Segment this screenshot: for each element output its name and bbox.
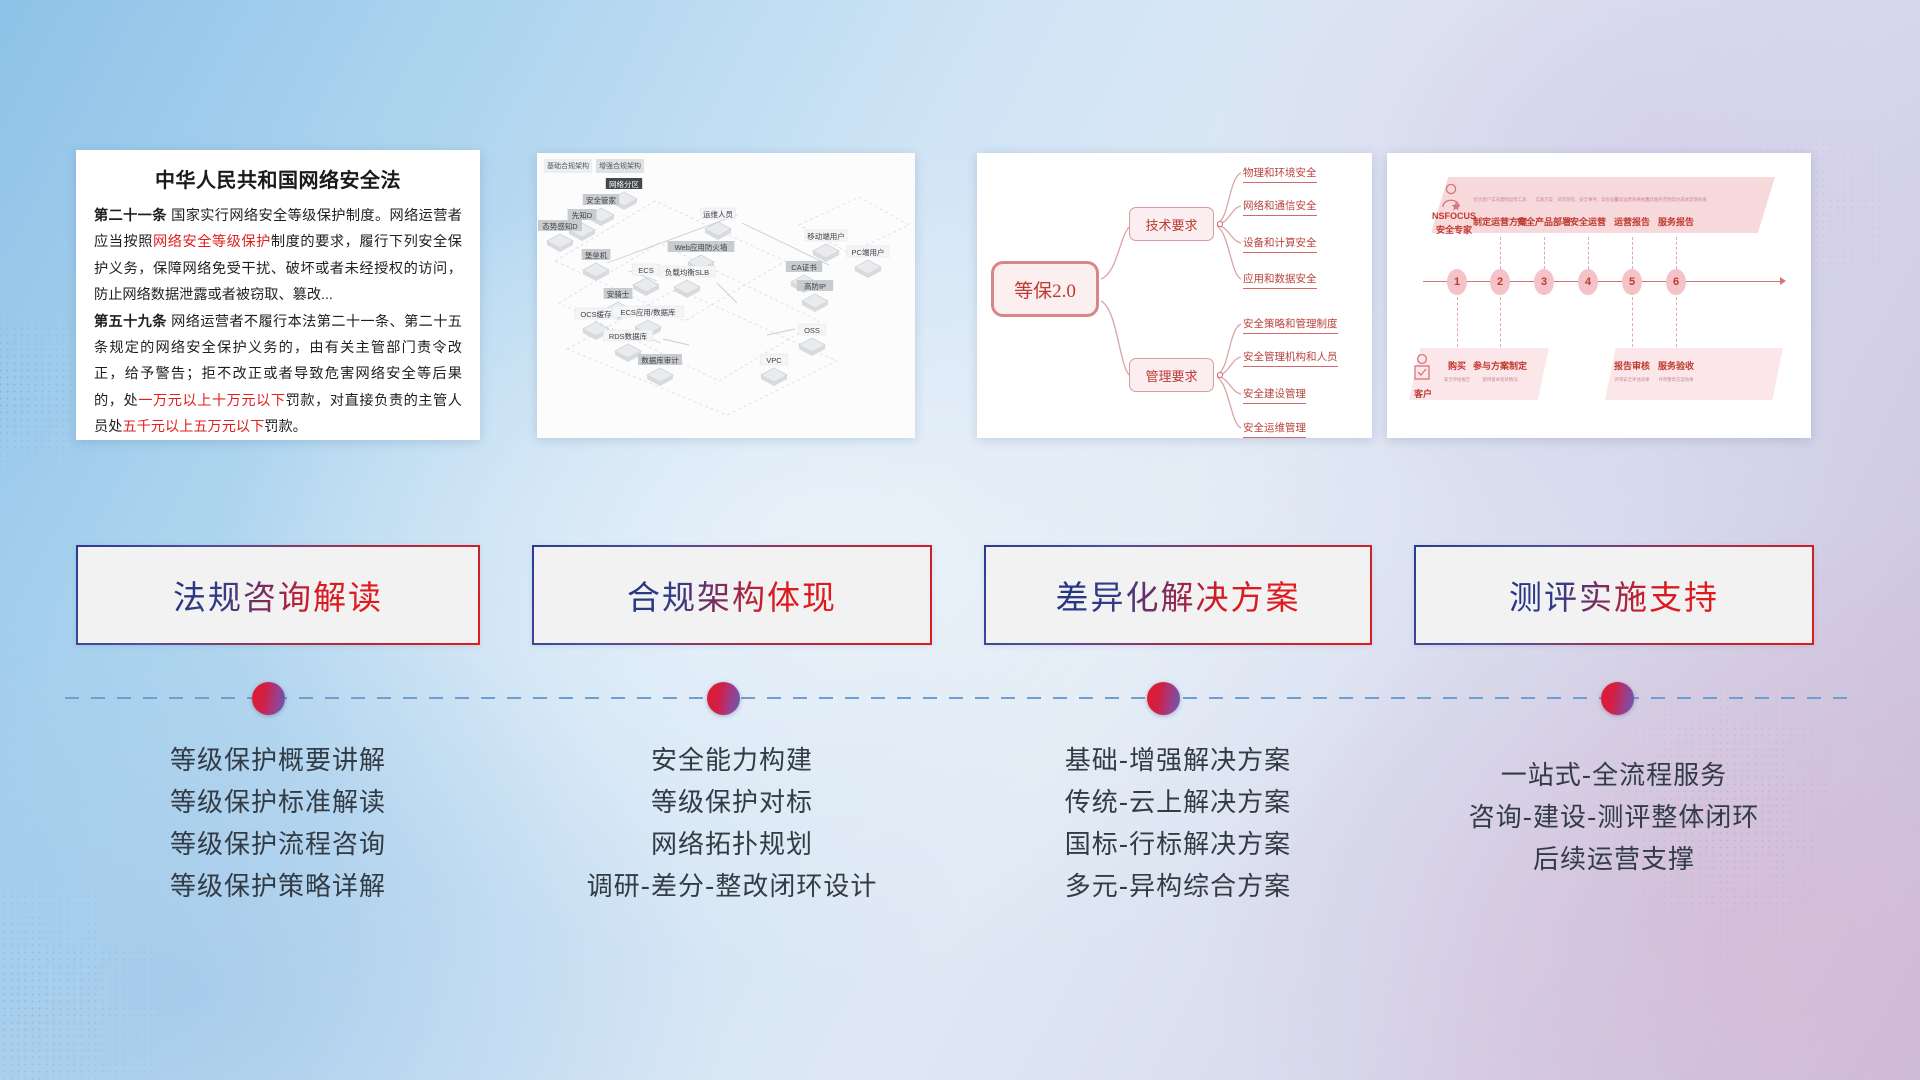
customer-step-label: 服务验收 [1640, 359, 1712, 372]
mindmap-leaf: 应用和数据安全 [1243, 271, 1317, 289]
architecture-node: 负载均衡SLB [659, 266, 715, 298]
mindmap-leaf: 安全建设管理 [1243, 386, 1306, 404]
section-2-item: 等级保护对标 [532, 782, 932, 824]
section-title-box-4[interactable]: 测评实施支持 [1414, 545, 1814, 645]
article-21-label: 第二十一条 [94, 208, 167, 224]
mindmap-collapse-dot-technical[interactable] [1217, 221, 1223, 227]
mindmap-leaf: 安全运维管理 [1243, 420, 1306, 438]
process-node-5[interactable]: 5 [1622, 269, 1642, 295]
section-title-1: 法规咨询解读 [173, 571, 383, 619]
mindmap-root-node: 等保2.0 [991, 261, 1099, 317]
vendor-step-label: 服务报告 [1640, 215, 1712, 228]
section-1-item: 等级保护策略详解 [76, 866, 480, 908]
connector-line [1632, 237, 1633, 269]
mindmap-branch-technical: 技术要求 [1129, 207, 1214, 241]
connector-line [1588, 237, 1589, 269]
process-node-2[interactable]: 2 [1490, 269, 1510, 295]
article-21-highlight: 网络安全等级保护 [153, 234, 271, 250]
svg-text:RDS数据库: RDS数据库 [609, 331, 648, 341]
process-node-1[interactable]: 1 [1447, 269, 1467, 295]
article-59-highlight-1: 一万元以上十万元以下 [138, 393, 285, 409]
mindmap: 等保2.0 技术要求 管理要求 物理和环境安全网络和通信安全设备和计算安全应用和… [977, 153, 1372, 438]
svg-text:态势感知D: 态势感知D [542, 221, 578, 231]
svg-text:负载均衡SLB: 负载均衡SLB [665, 267, 709, 277]
section-title-box-2[interactable]: 合规架构体现 [532, 545, 932, 645]
architecture-node: PC端用户 [847, 246, 889, 278]
card-mindmap-dengbao: 等保2.0 技术要求 管理要求 物理和环境安全网络和通信安全设备和计算安全应用和… [977, 153, 1372, 438]
section-title-2: 合规架构体现 [627, 571, 837, 619]
mindmap-leaf: 物理和环境安全 [1243, 165, 1317, 183]
architecture-svg: 网络分区安全管家先知D态势感知D堡垒机运维人员移动端用户PC端用户Web应用防火… [537, 153, 915, 438]
svg-text:CA证书: CA证书 [791, 262, 817, 272]
nsfocus-process: NSFOCUS 安全专家 客户 123456制定运营方案结合客户实况需明运营工具… [1387, 153, 1811, 438]
svg-text:VPC: VPC [766, 356, 782, 365]
customer-step-sublabel: 提供基本现状情况 [1464, 377, 1536, 383]
section-2-item: 调研-差分-整改闭环设计 [532, 866, 932, 908]
mindmap-leaf: 设备和计算安全 [1243, 235, 1317, 253]
dashed-timeline [65, 697, 1855, 699]
architecture-node: VPC [760, 354, 788, 386]
law-text-block: 中华人民共和国网络安全法 第二十一条 国家实行网络安全等级保护制度。网络运营者应… [76, 150, 480, 440]
svg-text:移动端用户: 移动端用户 [807, 231, 845, 241]
section-items-4: 一站式-全流程服务咨询-建设-测评整体闭环后续运营支撑 [1414, 755, 1814, 881]
svg-text:OSS: OSS [804, 326, 820, 335]
section-1-item: 等级保护概要讲解 [76, 740, 480, 782]
article-59-highlight-2: 五千元以上五万元以下 [122, 419, 264, 435]
connector-line [1632, 297, 1633, 347]
card-cybersecurity-law: 中华人民共和国网络安全法 第二十一条 国家实行网络安全等级保护制度。网络运营者应… [76, 150, 480, 440]
process-node-6[interactable]: 6 [1666, 269, 1686, 295]
svg-text:堡垒机: 堡垒机 [585, 250, 608, 260]
article-59-label: 第五十九条 [94, 314, 167, 330]
section-4-item: 咨询-建设-测评整体闭环 [1414, 797, 1814, 839]
svg-text:网络分区: 网络分区 [609, 179, 639, 189]
architecture-node: 堡垒机 [582, 249, 611, 281]
process-node-3[interactable]: 3 [1534, 269, 1554, 295]
timeline-arrow-icon [1780, 277, 1786, 285]
section-3-item: 国标-行标解决方案 [984, 824, 1372, 866]
svg-text:PC端用户: PC端用户 [852, 247, 885, 257]
vendor-step-sublabel: 总结服务范围及达成本定期效果 [1640, 197, 1712, 203]
law-title: 中华人民共和国网络安全法 [94, 164, 462, 193]
connector-line [1500, 237, 1501, 269]
connector-line [1676, 297, 1677, 347]
section-title-box-3[interactable]: 差异化解决方案 [984, 545, 1372, 645]
section-3-item: 多元-异构综合方案 [984, 866, 1372, 908]
architecture-node: ECS [632, 264, 660, 296]
section-title-4: 测评实施支持 [1509, 571, 1719, 619]
timeline-node-2[interactable] [707, 682, 740, 715]
timeline-node-3[interactable] [1147, 682, 1180, 715]
svg-text:ECS: ECS [638, 266, 653, 275]
svg-text:安全管家: 安全管家 [586, 195, 616, 205]
section-3-item: 传统-云上解决方案 [984, 782, 1372, 824]
svg-text:ECS应用/数据库: ECS应用/数据库 [620, 307, 676, 317]
timeline-node-1[interactable] [252, 682, 285, 715]
section-1-item: 等级保护流程咨询 [76, 824, 480, 866]
svg-text:OCS缓存: OCS缓存 [580, 309, 612, 319]
section-2-item: 安全能力构建 [532, 740, 932, 782]
expert-person-icon [1439, 183, 1465, 213]
mindmap-leaf: 安全管理机构和人员 [1243, 349, 1338, 367]
svg-text:数据库审计: 数据库审计 [641, 355, 679, 365]
section-items-1: 等级保护概要讲解等级保护标准解读等级保护流程咨询等级保护策略详解 [76, 740, 480, 908]
connector-line [1544, 237, 1545, 269]
card-nsfocus-timeline: NSFOCUS 安全专家 客户 123456制定运营方案结合客户实况需明运营工具… [1387, 153, 1811, 438]
section-4-item: 一站式-全流程服务 [1414, 755, 1814, 797]
architecture-node: 移动端用户 [805, 230, 847, 262]
architecture-node: OSS [798, 324, 826, 356]
card-cloud-architecture: 基础合规架构 增强合规架构 网络分区安全管家先知D态势感知D堡垒机运维人员移动端… [537, 153, 915, 438]
mindmap-branch-management: 管理要求 [1129, 358, 1214, 392]
customer-role: 客户 [1411, 387, 1435, 400]
timeline-node-4[interactable] [1601, 682, 1634, 715]
section-items-3: 基础-增强解决方案传统-云上解决方案国标-行标解决方案多元-异构综合方案 [984, 740, 1372, 908]
customer-step-label: 参与方案制定 [1464, 359, 1536, 372]
customer-step-sublabel: 评审整改方案效果 [1640, 377, 1712, 383]
timeline-axis [1423, 281, 1783, 282]
mindmap-leaf: 安全策略和管理制度 [1243, 316, 1338, 334]
svg-text:先知D: 先知D [572, 210, 593, 220]
svg-text:高防IP: 高防IP [804, 281, 826, 291]
svg-text:安骑士: 安骑士 [607, 289, 630, 299]
section-title-box-1[interactable]: 法规咨询解读 [76, 545, 480, 645]
section-2-item: 网络拓扑规划 [532, 824, 932, 866]
law-article-21: 第二十一条 国家实行网络安全等级保护制度。网络运营者应当按照网络安全等级保护制度… [94, 203, 462, 309]
connector-line [1500, 297, 1501, 347]
svg-text:Web应用防火墙: Web应用防火墙 [675, 242, 728, 252]
section-title-3: 差异化解决方案 [1056, 571, 1301, 619]
architecture-diagram: 基础合规架构 增强合规架构 网络分区安全管家先知D态势感知D堡垒机运维人员移动端… [537, 153, 915, 438]
section-3-item: 基础-增强解决方案 [984, 740, 1372, 782]
section-4-item: 后续运营支撑 [1414, 839, 1814, 881]
card-row: 中华人民共和国网络安全法 第二十一条 国家实行网络安全等级保护制度。网络运营者应… [0, 150, 1920, 440]
svg-text:运维人员: 运维人员 [703, 209, 733, 219]
mindmap-leaf: 网络和通信安全 [1243, 198, 1317, 216]
mindmap-collapse-dot-management[interactable] [1217, 372, 1223, 378]
section-1-item: 等级保护标准解读 [76, 782, 480, 824]
law-article-59: 第五十九条 网络运营者不履行本法第二十一条、第二十五条规定的网络安全保护义务的，… [94, 309, 462, 440]
article-59-text-3: 罚款。 [264, 419, 307, 435]
process-node-4[interactable]: 4 [1578, 269, 1598, 295]
connector-line [1676, 237, 1677, 269]
connector-line [1457, 297, 1458, 347]
customer-band-right [1605, 348, 1783, 400]
section-items-2: 安全能力构建等级保护对标网络拓扑规划调研-差分-整改闭环设计 [532, 740, 932, 908]
architecture-node: 高防IP [797, 280, 833, 312]
